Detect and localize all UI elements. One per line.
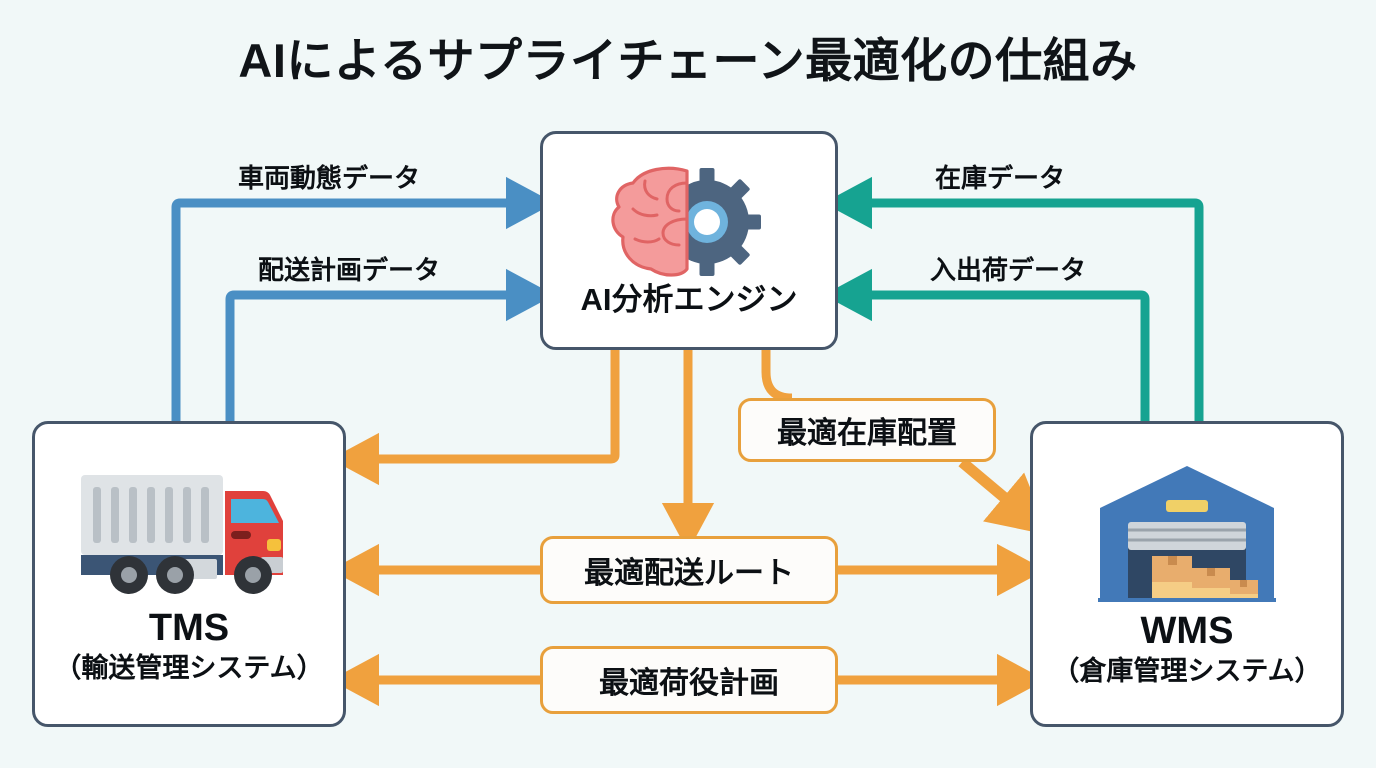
node-tms[interactable]: TMS （輸送管理システム） [32, 421, 346, 727]
flow-stock-placement-to-wms [962, 462, 1012, 504]
truck-icon [75, 465, 303, 599]
brain-gear-icon [609, 163, 769, 281]
pill-optimal-stock-placement[interactable]: 最適在庫配置 [738, 398, 996, 462]
warehouse-icon [1098, 462, 1276, 602]
flow-delivery-plan-data [230, 295, 515, 421]
node-tms-subtitle: （輸送管理システム） [54, 653, 323, 683]
node-wms-title: WMS [1052, 610, 1321, 653]
pill-optimal-handling-plan[interactable]: 最適荷役計画 [540, 646, 838, 714]
pill-optimal-delivery-route[interactable]: 最適配送ルート [540, 536, 838, 604]
edge-label-vehicle-data: 車両動態データ [238, 158, 420, 195]
node-ai-engine[interactable]: AI分析エンジン [540, 131, 838, 350]
flow-ai-to-tms [370, 350, 615, 459]
flow-ai-to-stock-placement [766, 350, 792, 398]
node-wms[interactable]: WMS （倉庫管理システム） [1030, 421, 1344, 727]
edge-label-delivery-plan-data: 配送計画データ [258, 250, 440, 287]
node-tms-label: TMS （輸送管理システム） [54, 607, 323, 683]
edge-label-inventory-data: 在庫データ [935, 158, 1065, 195]
edge-label-inout-data: 入出荷データ [930, 250, 1086, 287]
node-ai-engine-label: AI分析エンジン [581, 283, 798, 318]
node-wms-label: WMS （倉庫管理システム） [1052, 610, 1321, 686]
node-tms-title: TMS [54, 607, 323, 650]
diagram-canvas: AIによるサプライチェーン最適化の仕組み [0, 0, 1376, 768]
node-wms-subtitle: （倉庫管理システム） [1052, 656, 1321, 686]
